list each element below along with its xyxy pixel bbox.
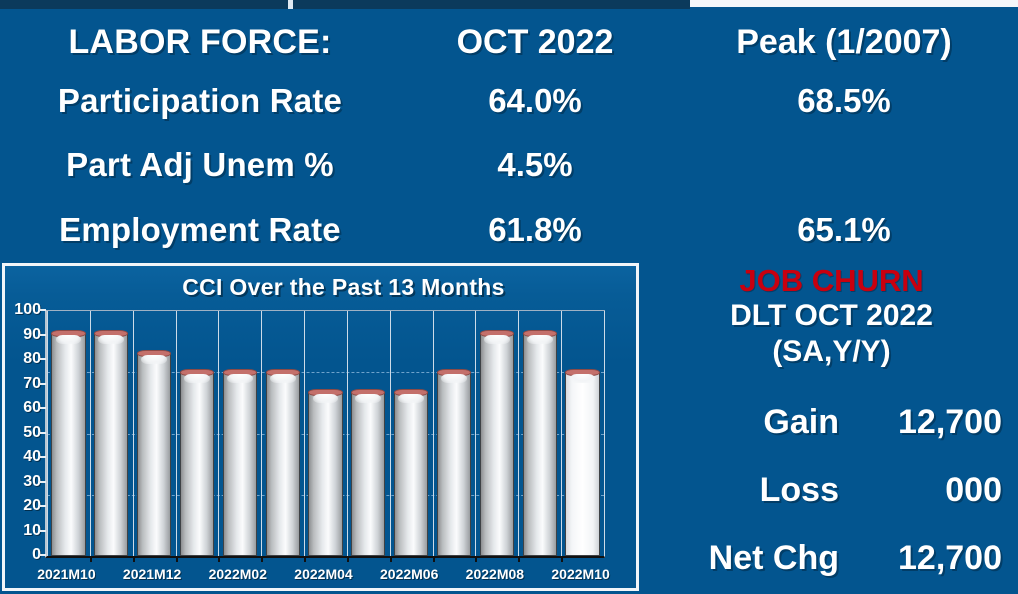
chart-gridline-v [475, 311, 476, 556]
chart-gridline-v [304, 311, 305, 556]
chart-x-tick [218, 556, 220, 562]
chart-gridline-v [176, 311, 177, 556]
chart-x-tick [433, 556, 435, 562]
chart-plot-area [45, 310, 605, 558]
chart-y-tick [39, 407, 46, 409]
chart-y-tick-label: 60 [5, 399, 41, 417]
top-navy-strip [0, 0, 690, 9]
chart-gridline-v [218, 311, 219, 556]
chart-x-tick [347, 556, 349, 562]
table-row: Participation Rate 64.0% 68.5% [0, 72, 1018, 129]
chart-x-tick [90, 556, 92, 562]
table-row: Part Adj Unem % 4.5% [0, 136, 1018, 193]
row-current-participation-rate: 64.0% [400, 82, 670, 120]
chart-x-tick-label: 2021M10 [37, 566, 95, 582]
chart-gridline-v [133, 311, 134, 556]
chart-gridline-v [90, 311, 91, 556]
chart-x-tick [518, 556, 520, 562]
chart-bar [266, 372, 300, 556]
chart-y-tick-label: 90 [5, 326, 41, 344]
chart-bar [480, 333, 514, 556]
chart-x-tick [390, 556, 392, 562]
chart-y-tick [39, 358, 46, 360]
row-current-employment-rate: 61.8% [400, 211, 670, 249]
chart-bar-highlight [570, 374, 596, 383]
chart-bar [351, 392, 385, 556]
job-churn-title: JOB CHURN [645, 263, 1018, 299]
chart-x-tick [133, 556, 135, 562]
chart-y-tick-label: 100 [5, 301, 41, 319]
chart-x-tick-label: 2022M04 [294, 566, 352, 582]
row-label-participation-rate: Participation Rate [0, 82, 400, 120]
row-peak-employment-rate: 65.1% [670, 211, 1018, 249]
chart-y-tick-label: 80 [5, 350, 41, 368]
chart-y-tick-label: 70 [5, 375, 41, 393]
chart-bar-highlight [227, 374, 253, 383]
chart-gridline-v [433, 311, 434, 556]
cci-chart-panel: CCI Over the Past 13 Months 010203040506… [2, 263, 639, 591]
dashboard-root: LABOR FORCE: OCT 2022 Peak (1/2007) Part… [0, 0, 1018, 594]
job-churn-value-loss: 000 [845, 471, 1018, 510]
job-churn-label-loss: Loss [645, 471, 845, 510]
chart-bar [137, 353, 171, 556]
chart-y-tick [39, 309, 46, 311]
chart-x-tick [475, 556, 477, 562]
chart-x-tick-label: 2022M10 [551, 566, 609, 582]
chart-bar-highlight [355, 394, 381, 403]
chart-bar-highlight [184, 374, 210, 383]
chart-y-tick-label: 40 [5, 448, 41, 466]
chart-x-tick [561, 556, 563, 562]
top-strip-right-edge [690, 0, 1018, 7]
header-peak-period: Peak (1/2007) [670, 23, 1018, 62]
table-row: Employment Rate 61.8% 65.1% [0, 201, 1018, 258]
chart-x-tick-label: 2022M02 [209, 566, 267, 582]
chart-bar [180, 372, 214, 556]
chart-y-tick [39, 456, 46, 458]
chart-bar-highlight [56, 335, 82, 344]
labor-force-table: LABOR FORCE: OCT 2022 Peak (1/2007) Part… [0, 9, 1018, 261]
chart-bar [394, 392, 428, 556]
chart-bar-highlight [313, 394, 339, 403]
job-churn-label-net-chg: Net Chg [645, 539, 845, 578]
header-current-period: OCT 2022 [400, 23, 670, 62]
chart-bar-highlight [441, 374, 467, 383]
chart-gridline-v [561, 311, 562, 556]
chart-bar [437, 372, 471, 556]
chart-x-tick-label: 2022M06 [380, 566, 438, 582]
chart-y-tick-label: 20 [5, 497, 41, 515]
chart-gridline-v [604, 311, 605, 556]
job-churn-row-gain: Gain 12,700 [645, 395, 1018, 449]
chart-y-tick [39, 554, 46, 556]
chart-y-tick-label: 50 [5, 424, 41, 442]
chart-y-tick [39, 383, 46, 385]
job-churn-subtitle-line1: DLT OCT 2022 [645, 299, 1018, 333]
job-churn-label-gain: Gain [645, 403, 845, 442]
job-churn-subtitle-line2: (SA,Y/Y) [645, 335, 1018, 369]
job-churn-panel: JOB CHURN DLT OCT 2022 (SA,Y/Y) Gain 12,… [645, 263, 1018, 594]
row-peak-participation-rate: 68.5% [670, 82, 1018, 120]
chart-bar [223, 372, 257, 556]
job-churn-value-gain: 12,700 [845, 403, 1018, 442]
chart-bar-highlight [270, 374, 296, 383]
header-metric-label: LABOR FORCE: [0, 23, 400, 62]
chart-y-tick [39, 505, 46, 507]
chart-bar-highlight [484, 335, 510, 344]
chart-gridline-v [518, 311, 519, 556]
chart-x-tick [176, 556, 178, 562]
row-label-part-adj-unem: Part Adj Unem % [0, 146, 400, 184]
chart-x-tick [261, 556, 263, 562]
chart-y-tick-label: 10 [5, 522, 41, 540]
row-label-employment-rate: Employment Rate [0, 211, 400, 249]
chart-y-tick [39, 334, 46, 336]
chart-gridline-h [47, 372, 604, 373]
chart-bar [94, 333, 128, 556]
chart-y-tick-label: 30 [5, 473, 41, 491]
chart-y-tick-label: 0 [5, 546, 41, 564]
chart-bar [308, 392, 342, 556]
chart-bar-highlight [527, 335, 553, 344]
table-header-row: LABOR FORCE: OCT 2022 Peak (1/2007) [0, 14, 1018, 71]
chart-x-tick [304, 556, 306, 562]
job-churn-row-net-chg: Net Chg 12,700 [645, 531, 1018, 585]
job-churn-row-loss: Loss 000 [645, 463, 1018, 517]
chart-bar-highlight [398, 394, 424, 403]
chart-x-axis: 2021M102021M122022M022022M042022M062022M… [5, 566, 639, 590]
chart-x-tick-label: 2021M12 [123, 566, 181, 582]
chart-gridline-v [390, 311, 391, 556]
chart-y-tick [39, 481, 46, 483]
chart-y-tick [39, 530, 46, 532]
chart-gridline-v [47, 311, 48, 556]
chart-bar-highlight [141, 355, 167, 364]
chart-bar [523, 333, 557, 556]
top-strip-notch [288, 0, 293, 9]
chart-gridline-v [347, 311, 348, 556]
chart-title: CCI Over the Past 13 Months [5, 274, 639, 301]
job-churn-value-net-chg: 12,700 [845, 539, 1018, 578]
chart-bar [565, 372, 599, 556]
row-current-part-adj-unem: 4.5% [400, 146, 670, 184]
chart-gridline-v [261, 311, 262, 556]
chart-y-tick [39, 432, 46, 434]
chart-bar-highlight [98, 335, 124, 344]
chart-bar [51, 333, 85, 556]
chart-x-tick-label: 2022M08 [466, 566, 524, 582]
